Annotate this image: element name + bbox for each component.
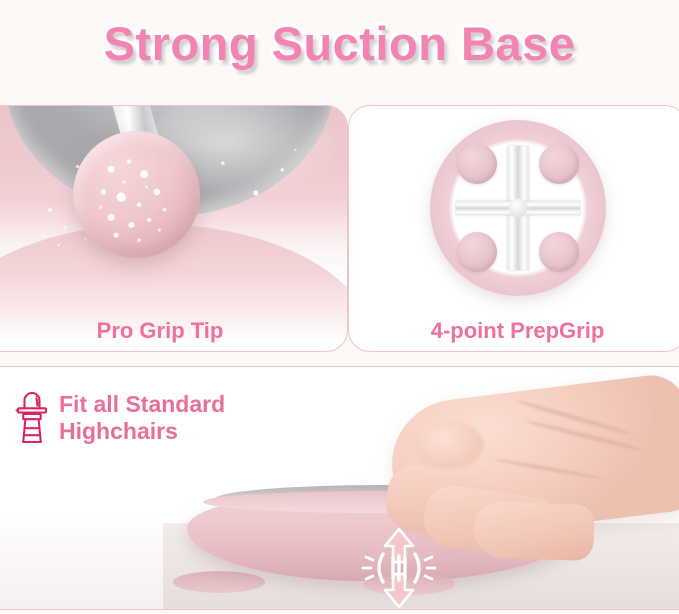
suction-pad-bottom-right <box>539 232 579 272</box>
highchair-feature-text: Fit all Standard Highchairs <box>59 391 225 445</box>
highchair-feature-block: Fit all Standard Highchairs <box>15 391 225 445</box>
highchair-icon <box>15 392 49 444</box>
suction-pad-top-right <box>539 144 579 184</box>
pro-grip-photo <box>0 106 347 306</box>
caption-prep-grip: 4-point PrepGrip <box>349 318 679 344</box>
caption-divider <box>0 312 333 313</box>
highchair-fit-photo: Fit all Standard Highchairs <box>0 367 679 609</box>
prep-grip-photo <box>349 106 679 306</box>
clear-rib-hub <box>508 199 527 218</box>
panel-pro-grip: Pro Grip Tip <box>0 105 348 352</box>
suction-base-disc <box>430 120 606 296</box>
caption-pro-grip: Pro Grip Tip <box>0 318 347 344</box>
plate-side-tab <box>535 501 589 535</box>
page-title-bar: Strong Suction Base <box>0 0 679 86</box>
page-title: Strong Suction Base <box>104 16 576 71</box>
suction-force-arrows-icon <box>353 524 445 612</box>
caption-divider <box>363 312 672 313</box>
suction-pad-top-left <box>457 144 497 184</box>
plate-outer-lip <box>203 491 563 513</box>
suction-pad-bottom-left <box>457 232 497 272</box>
panel-prep-grip: 4-point PrepGrip <box>348 105 679 352</box>
infographic-page: Strong Suction Base Pro Grip Tip <box>0 0 679 614</box>
suction-tip-droplets <box>73 131 200 258</box>
panel-highchair-fit: Fit all Standard Highchairs <box>0 366 679 610</box>
suction-foot-left <box>173 571 265 593</box>
